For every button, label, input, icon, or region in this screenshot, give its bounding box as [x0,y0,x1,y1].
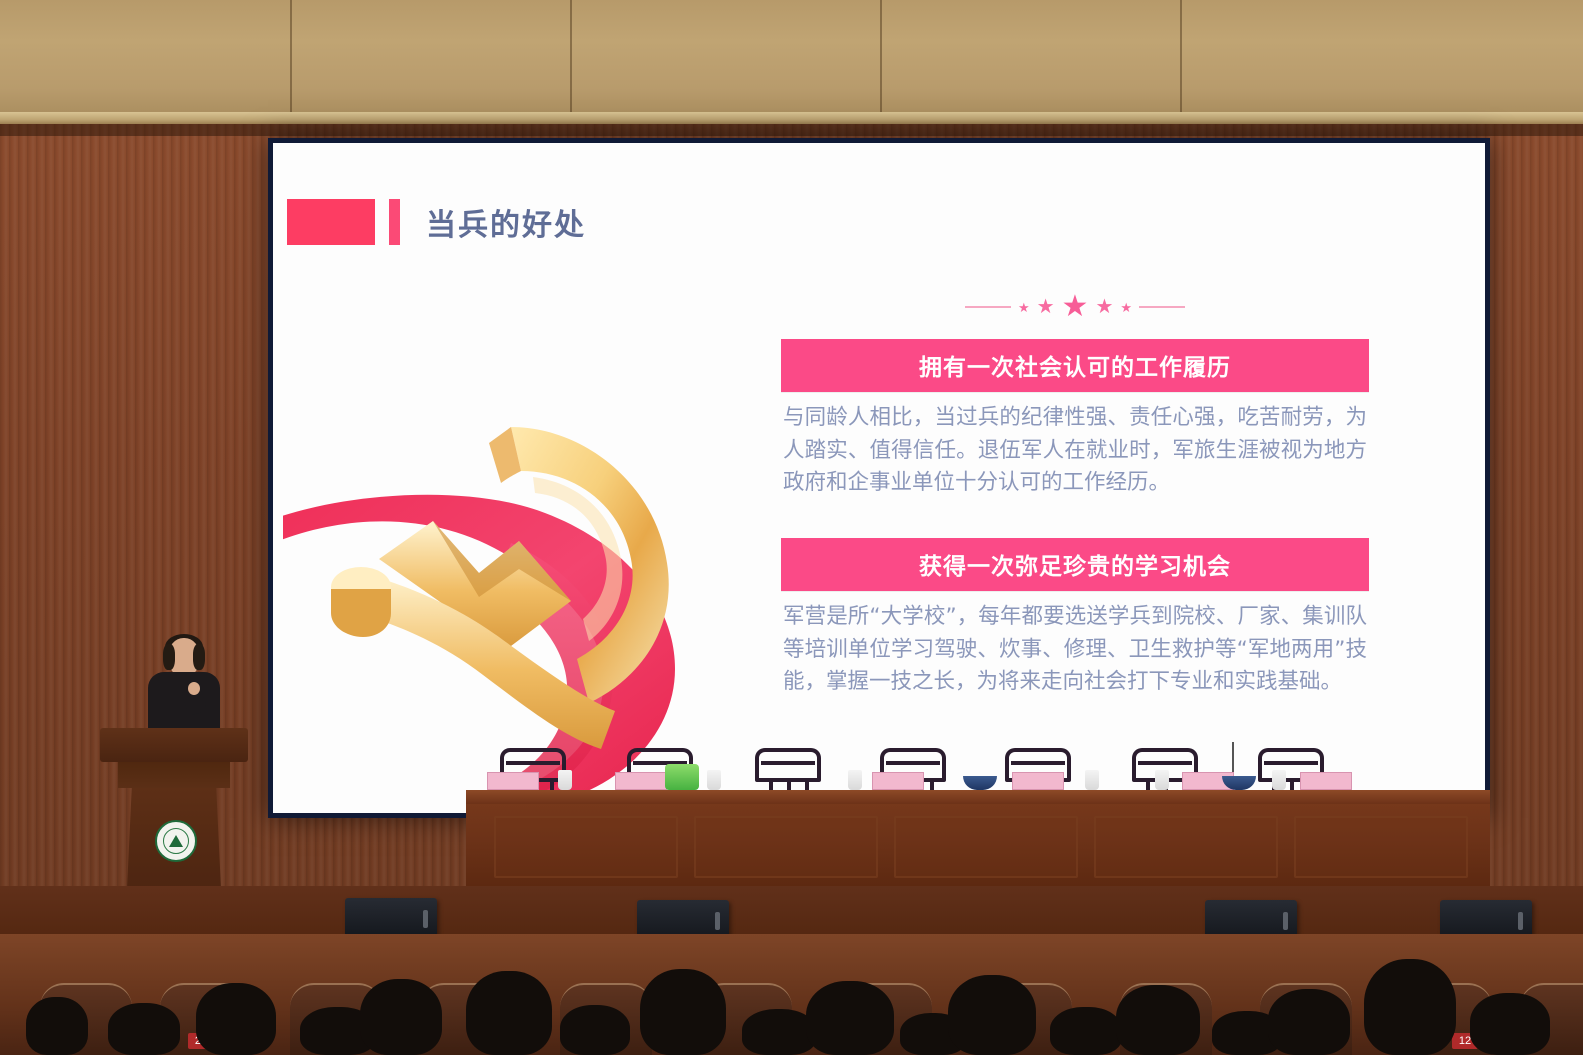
hammer-sickle-icon [283,373,733,793]
divider-dash-left [965,306,1011,308]
audience-head [360,979,442,1055]
audience-head [466,971,552,1055]
teacup [1085,770,1099,790]
name-card [615,772,667,790]
podium-top [100,728,248,762]
audience-head [196,983,276,1055]
teacup [1155,770,1169,790]
slide-content-column: ★ ★ ★ ★ ★ 拥有一次社会认可的工作履历 与同龄人相比，当过兵的纪律性强、… [781,293,1369,699]
party-emblem-artwork [283,373,733,793]
head-table-chair [755,748,821,794]
audience-head [742,1009,816,1055]
presenter-hand [188,682,200,695]
audience-head [26,997,88,1055]
name-card [1300,772,1352,790]
projection-screen: 当兵的好处 [268,138,1490,818]
teacup [1272,770,1286,790]
audience-head [1050,1007,1122,1055]
audience-head [948,975,1036,1055]
star-icon-3: ★ [1062,292,1089,322]
block-2-heading: 获得一次弥足珍贵的学习机会 [781,538,1369,591]
lecture-hall-photo: 当兵的好处 [0,0,1583,1055]
audience-head [1364,959,1456,1055]
audience-head [640,969,726,1055]
teacup [848,770,862,790]
name-card [487,772,539,790]
content-block-1: 拥有一次社会认可的工作履历 与同龄人相比，当过兵的纪律性强、责任心强，吃苦耐劳，… [781,339,1369,500]
podium-neck [118,762,230,788]
presenter [140,638,226,738]
block-1-body: 与同龄人相比，当过兵的纪律性强、责任心强，吃苦耐劳，为人踏实、值得信任。退伍军人… [783,402,1367,500]
divider-dash-right [1139,306,1185,308]
audience-head [1116,985,1200,1055]
school-crest-icon [155,820,197,862]
star-icon-5: ★ [1120,301,1132,314]
audience-head [1268,989,1350,1055]
presentation-slide: 当兵的好处 [273,143,1485,813]
presenter-hair-left [163,644,175,670]
name-card [872,772,924,790]
wall-band [0,124,1583,136]
teacup [558,770,572,790]
star-icon-1: ★ [1018,301,1030,314]
slide-title-row: 当兵的好处 [287,199,586,245]
head-table [466,790,1490,894]
title-accent-bar [389,199,400,245]
presenter-hair-right [193,644,205,670]
green-tea-container [665,764,699,790]
audience-head [806,981,894,1055]
audience: 20 13 12 [0,946,1583,1055]
star-icon-4: ★ [1095,297,1113,317]
star-icon-2: ★ [1037,297,1055,317]
audience-head [560,1005,630,1055]
ceiling-panel [0,0,1583,118]
name-card [1012,772,1064,790]
title-accent-block [287,199,375,245]
content-block-2: 获得一次弥足珍贵的学习机会 军营是所“大学校”，每年都要选送学兵到院校、厂家、集… [781,538,1369,699]
star-divider: ★ ★ ★ ★ ★ [781,293,1369,321]
audience-head [1470,993,1550,1055]
audience-head [108,1003,180,1055]
teacup [707,770,721,790]
slide-title: 当兵的好处 [426,200,586,244]
block-2-body: 军营是所“大学校”，每年都要选送学兵到院校、厂家、集训队等培训单位学习驾驶、炊事… [783,601,1367,699]
block-1-heading: 拥有一次社会认可的工作履历 [781,339,1369,392]
